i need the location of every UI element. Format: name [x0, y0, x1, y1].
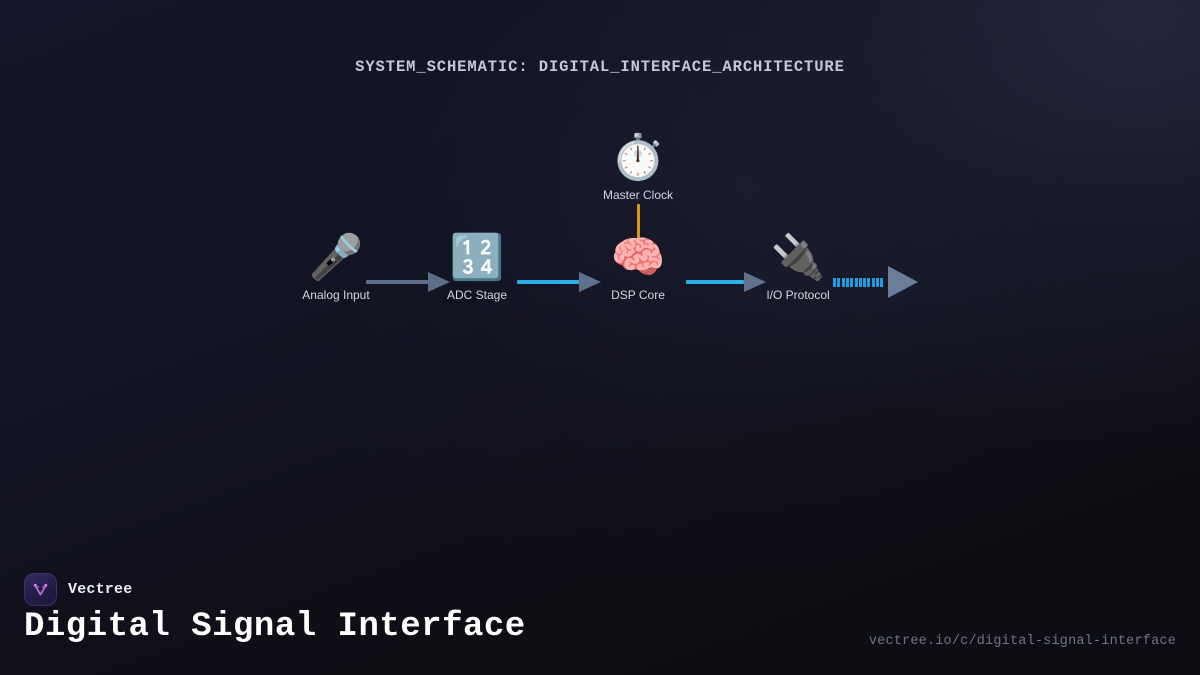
vectree-logo-icon [24, 573, 57, 606]
stopwatch-icon: ⏱️ [563, 132, 713, 184]
brand-name: Vectree [68, 581, 132, 598]
node-label: Master Clock [563, 188, 713, 203]
electric-plug-icon: 🔌 [723, 232, 873, 284]
footer-bar: Vectree Digital Signal Interface vectree… [0, 555, 1200, 675]
connector-arrowhead [888, 266, 918, 298]
node-dsp-core[interactable]: 🧠DSP Core [563, 232, 713, 303]
node-label: DSP Core [563, 288, 713, 303]
node-label: I/O Protocol [723, 288, 873, 303]
screenshot-canvas: SYSTEM_SCHEMATIC: DIGITAL_INTERFACE_ARCH… [0, 0, 1200, 675]
node-io-protocol[interactable]: 🔌I/O Protocol [723, 232, 873, 303]
node-analog-input[interactable]: 🎤Analog Input [261, 232, 411, 303]
node-label: ADC Stage [402, 288, 552, 303]
page-title: Digital Signal Interface [24, 608, 526, 646]
input-numbers-icon: 🔢 [402, 232, 552, 284]
node-adc-stage[interactable]: 🔢ADC Stage [402, 232, 552, 303]
node-master-clock[interactable]: ⏱️Master Clock [563, 132, 713, 203]
signal-flow-diagram: 🎤Analog Input🔢ADC Stage🧠DSP Core🔌I/O Pro… [0, 0, 1200, 560]
brain-icon: 🧠 [563, 232, 713, 284]
brand: Vectree [24, 573, 132, 606]
node-label: Analog Input [261, 288, 411, 303]
footer-url: vectree.io/c/digital-signal-interface [869, 634, 1176, 649]
microphone-icon: 🎤 [261, 232, 411, 284]
